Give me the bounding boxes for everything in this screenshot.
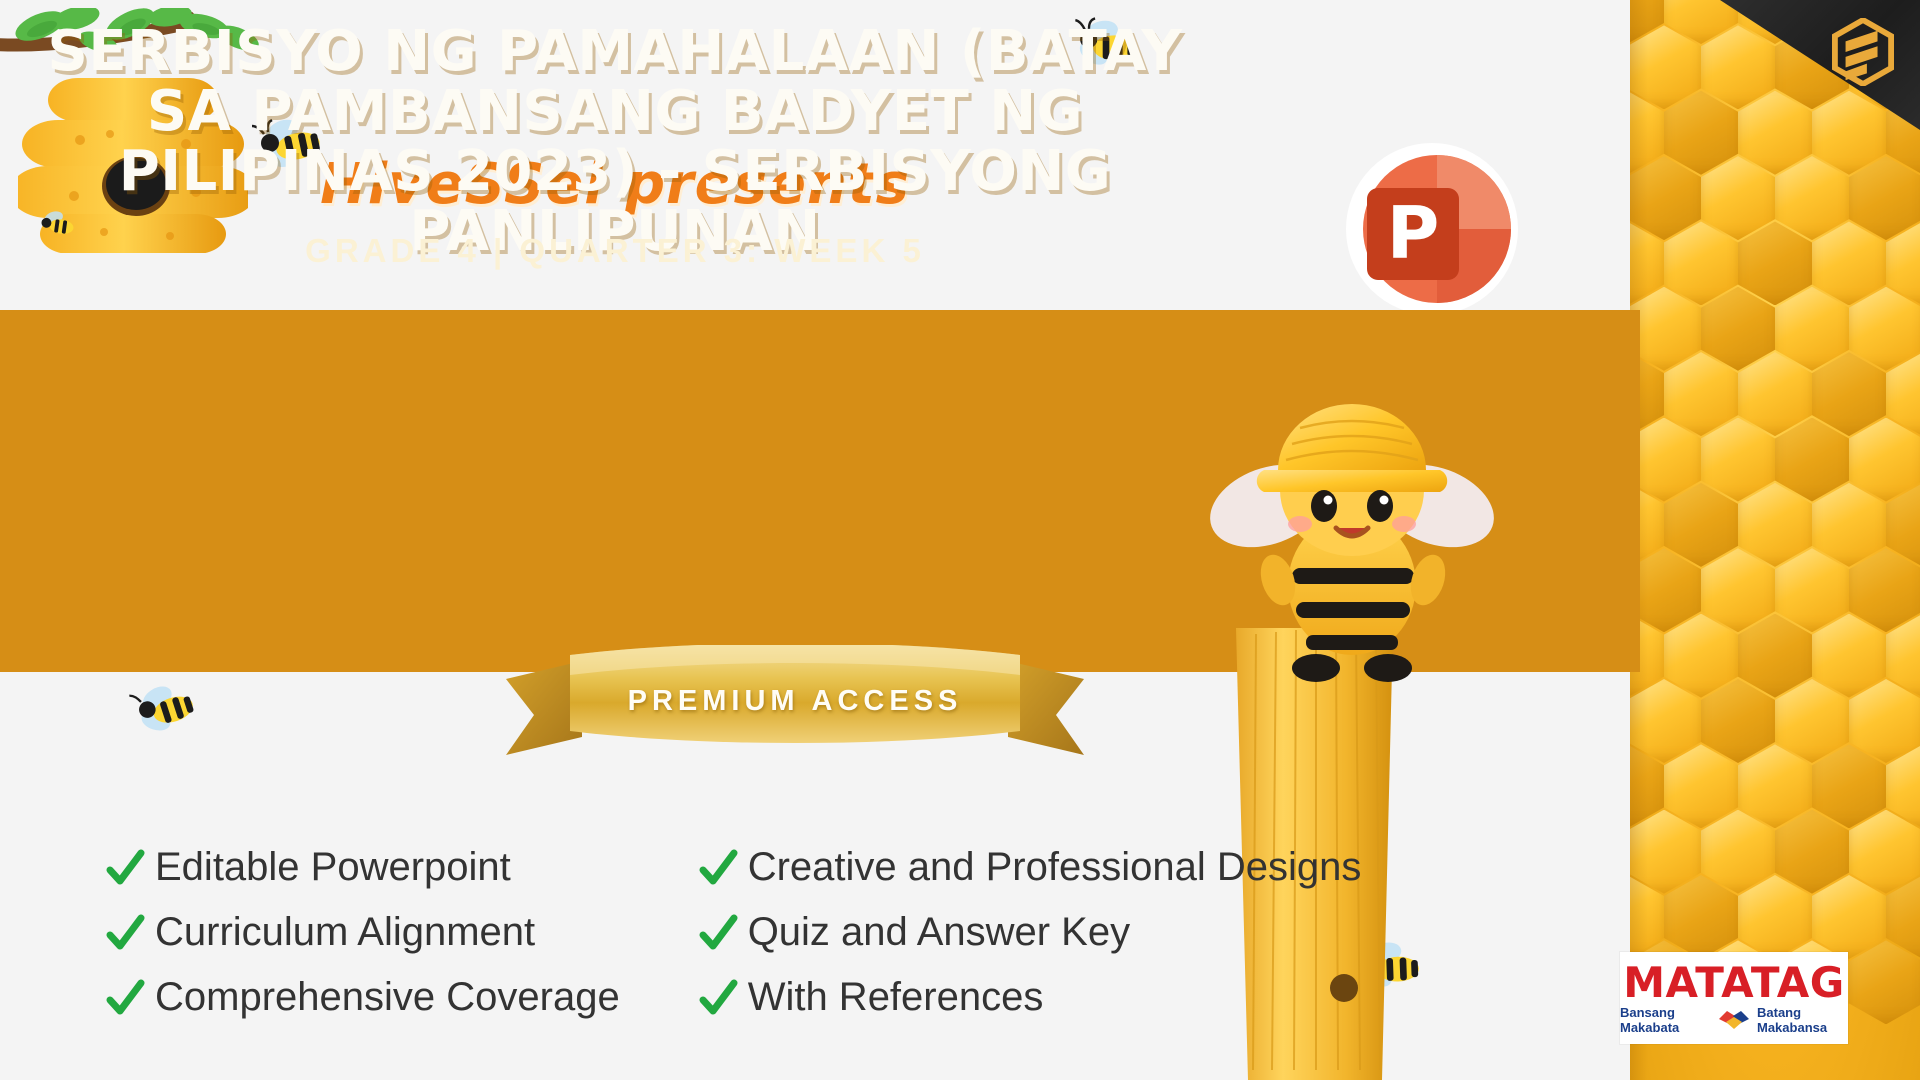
- honeycomb-cell: [1664, 483, 1738, 567]
- honeycomb-cell: [1664, 744, 1738, 828]
- grade-quarter-subtitle: GRADE 4 | QUARTER 3: WEEK 5: [0, 232, 1230, 270]
- list-item: Curriculum Alignment: [105, 910, 620, 955]
- feature-label: Comprehensive Coverage: [155, 975, 620, 1020]
- honeycomb-cell: [1701, 679, 1775, 763]
- feature-label: Creative and Professional Designs: [748, 845, 1362, 890]
- honeycomb-cell: [1664, 875, 1738, 959]
- honeycomb-cell: [1849, 418, 1920, 502]
- powerpoint-icon: P: [1345, 142, 1520, 317]
- honeycomb-cell: [1849, 940, 1920, 1024]
- features-list: Editable Powerpoint Curriculum Alignment…: [105, 845, 1465, 1020]
- feature-label: Editable Powerpoint: [155, 845, 511, 890]
- honeycomb-cell: [1775, 548, 1849, 632]
- honeycomb-cell: [1775, 287, 1849, 371]
- honeycomb-cell: [1812, 875, 1886, 959]
- page-title: SERBISYO NG PAMAHALAAN (BATAY SA PAMBANS…: [0, 22, 1230, 262]
- honeycomb-cell: [1849, 156, 1920, 240]
- honeycomb-cell: [1738, 744, 1812, 828]
- list-item: Creative and Professional Designs: [698, 845, 1362, 890]
- hive-hexagon-logo-icon: [1832, 18, 1894, 86]
- list-item: With References: [698, 975, 1362, 1020]
- honeycomb-cell: [1701, 418, 1775, 502]
- honeycomb-cell: [1738, 483, 1812, 567]
- matatag-tagline: Bansang Makabata Batang Makabansa: [1620, 1005, 1848, 1035]
- honeycomb-cell: [1849, 548, 1920, 632]
- honeycomb-cell: [1664, 352, 1738, 436]
- honeycomb-cell: [1738, 875, 1812, 959]
- honeycomb-cell: [1775, 679, 1849, 763]
- honeycomb-cell: [1849, 679, 1920, 763]
- green-check-icon: [698, 913, 738, 953]
- matatag-tagline-right: Batang Makabansa: [1757, 1005, 1848, 1035]
- matatag-tagline-left: Bansang Makabata: [1620, 1005, 1711, 1035]
- matatag-handshake-icon: [1717, 1008, 1751, 1033]
- green-check-icon: [105, 848, 145, 888]
- honeycomb-cell: [1701, 548, 1775, 632]
- features-left-column: Editable Powerpoint Curriculum Alignment…: [105, 845, 620, 1020]
- honeycomb-cell: [1664, 91, 1738, 175]
- honeycomb-cell: [1701, 810, 1775, 894]
- feature-label: Quiz and Answer Key: [748, 910, 1130, 955]
- matatag-wordmark: MATATAG: [1623, 961, 1845, 1005]
- svg-text:P: P: [1387, 191, 1440, 275]
- list-item: Quiz and Answer Key: [698, 910, 1362, 955]
- green-check-icon: [698, 978, 738, 1018]
- premium-ribbon-label: PREMIUM ACCESS: [500, 685, 1090, 718]
- honeycomb-cell: [1664, 614, 1738, 698]
- honeycomb-cell: [1812, 744, 1886, 828]
- honeycomb-cell: [1812, 352, 1886, 436]
- premium-ribbon: PREMIUM ACCESS: [500, 645, 1090, 760]
- green-check-icon: [698, 848, 738, 888]
- bee-mascot-with-hat-icon: [1200, 330, 1500, 750]
- honeycomb-cell: [1812, 91, 1886, 175]
- honeycomb-cell: [1812, 614, 1886, 698]
- honeycomb-cell: [1738, 352, 1812, 436]
- poster-canvas: HiveSSel presents P SERBISYO NG PAMAHALA…: [0, 0, 1920, 1080]
- features-right-column: Creative and Professional Designs Quiz a…: [698, 845, 1362, 1020]
- honeycomb-cell: [1701, 287, 1775, 371]
- bee-icon: [128, 679, 207, 746]
- honeycomb-cell: [1738, 614, 1812, 698]
- feature-label: Curriculum Alignment: [155, 910, 535, 955]
- honeycomb-cell: [1775, 418, 1849, 502]
- honeycomb-cell: [1812, 221, 1886, 305]
- honeycomb-cell: [1775, 810, 1849, 894]
- honeycomb-cell: [1849, 810, 1920, 894]
- honeycomb-cell: [1701, 25, 1775, 109]
- feature-label: With References: [748, 975, 1044, 1020]
- matatag-logo: MATATAG Bansang Makabata Batang Makabans…: [1620, 952, 1848, 1044]
- list-item: Editable Powerpoint: [105, 845, 620, 890]
- honeycomb-cell: [1849, 287, 1920, 371]
- green-check-icon: [105, 913, 145, 953]
- list-item: Comprehensive Coverage: [105, 975, 620, 1020]
- honeycomb-cell: [1812, 483, 1886, 567]
- green-check-icon: [105, 978, 145, 1018]
